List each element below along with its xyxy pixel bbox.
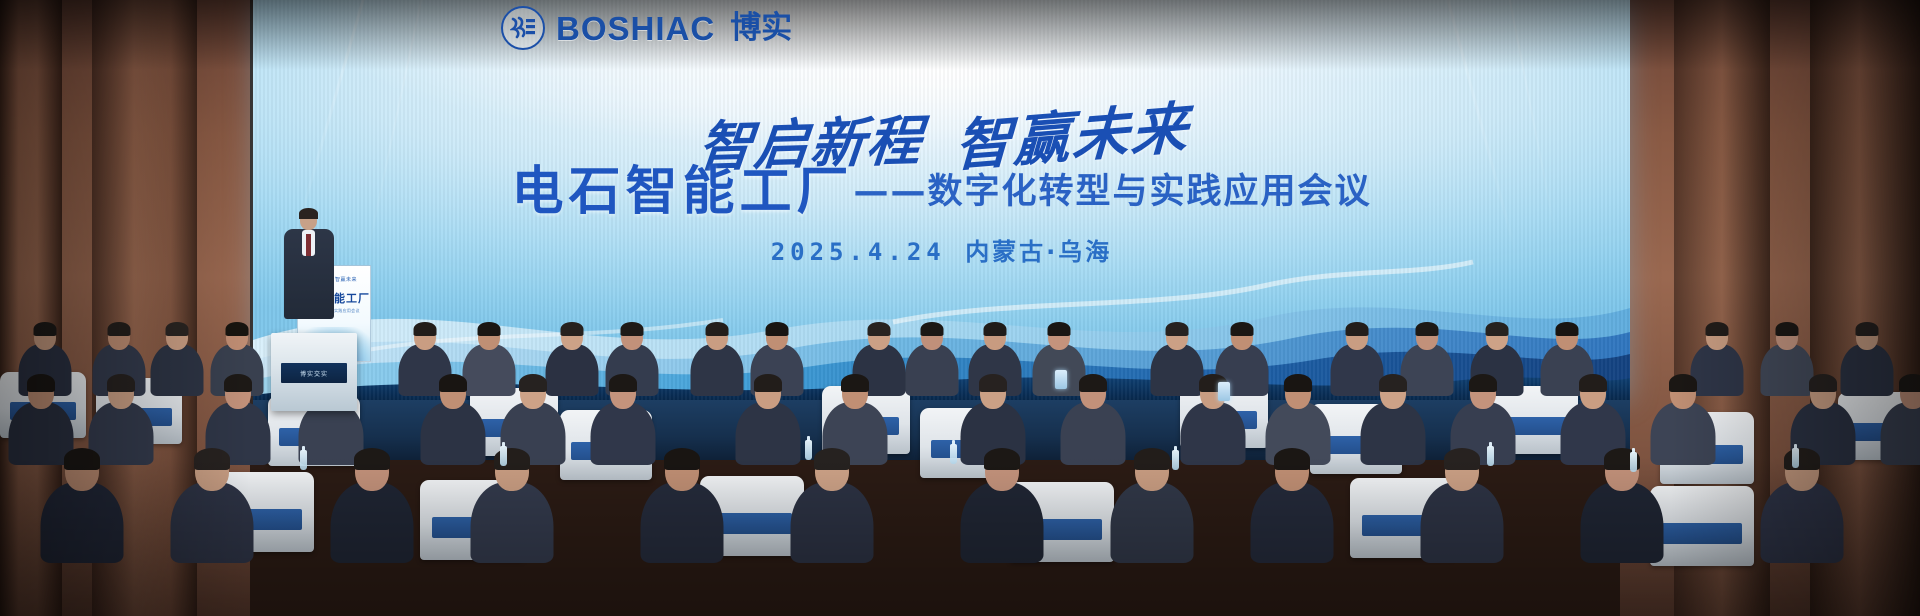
boshiac-circle-logo-icon [501,6,545,50]
audience-member-hair [1784,448,1820,470]
audience-member-hair [64,448,100,470]
audience-member-hair [1809,374,1837,392]
audience-member-hair [413,322,436,336]
event-location: 内蒙古·乌海 [965,238,1112,266]
audience-member-hair [979,374,1007,392]
smartphone-screen [1055,370,1067,389]
audience-member-hair [1079,374,1107,392]
audience-member [960,442,1043,565]
audience-member-hair [560,322,583,336]
brand-wordmark-cn: 博实 [730,13,792,44]
event-dateline: 2025.4.24 内蒙古·乌海 [253,232,1630,267]
audience-member [330,442,413,565]
audience-member-hair [27,374,55,392]
audience-member-hair [439,374,467,392]
podium: 博实交实 [271,333,357,411]
audience-member-hair [354,448,390,470]
audience-member-hair [1134,448,1170,470]
audience-member [40,442,123,565]
audience-member-hair [107,322,130,336]
audience-member-hair [519,374,547,392]
smartphone-screen [1218,382,1230,401]
water-bottle [500,446,507,466]
audience-member-hair [841,374,869,392]
water-bottle [1792,448,1799,468]
audience-member-hair [754,374,782,392]
audience-member-hair [664,448,700,470]
audience-member-hair [814,448,850,470]
audience-member-hair [1415,322,1438,336]
audience-member-hair [1705,322,1728,336]
audience-member-body [1360,402,1425,465]
water-bottle [1630,452,1637,472]
water-bottle [805,440,812,460]
audience-member-hair [1555,322,1578,336]
audience-member-hair [983,322,1006,336]
audience-member-hair [1047,322,1070,336]
audience-member [170,442,253,565]
water-bottle [950,444,957,464]
audience-member-body [1110,482,1193,563]
audience-member [1110,442,1193,565]
audience-member-body [1580,482,1663,563]
audience-member-body [960,482,1043,563]
audience-member-hair [984,448,1020,470]
audience-member [790,442,873,565]
event-date: 2025.4.24 [771,238,946,266]
audience-member-body [170,482,253,563]
water-bottle [1487,446,1494,466]
audience-member-body [905,344,958,396]
speaker-tie [306,234,311,256]
audience-member-hair [494,448,530,470]
audience-member-body [150,344,203,396]
audience-member-hair [225,322,248,336]
audience-member [1760,442,1843,565]
audience-member-hair [1469,374,1497,392]
audience-member-body [640,482,723,563]
audience-member-hair [920,322,943,336]
audience-member-body [1880,402,1920,465]
audience-member [1580,442,1663,565]
audience-member-hair [705,322,728,336]
audience-member-hair [165,322,188,336]
audience-member-hair [1855,322,1878,336]
audience-member-hair [1274,448,1310,470]
audience-member-body [1250,482,1333,563]
audience-member-hair [1379,374,1407,392]
audience-member-hair [194,448,230,470]
audience-member-hair [1669,374,1697,392]
audience-member-hair [1284,374,1312,392]
audience-member [1880,370,1920,467]
audience-member-body [1420,482,1503,563]
audience-member-hair [1165,322,1188,336]
audience-member-hair [609,374,637,392]
water-bottle [300,450,307,470]
audience-member-hair [1230,322,1253,336]
audience-member-hair [224,374,252,392]
audience-member [150,318,203,397]
headline-dash: —— [854,169,928,219]
audience-member-hair [1444,448,1480,470]
water-bottle [1172,450,1179,470]
audience-member-hair [1775,322,1798,336]
audience-member-hair [1485,322,1508,336]
headline-main: 电石智能工厂 [511,165,853,220]
audience-member-hair [1345,322,1368,336]
audience-member-hair [867,322,890,336]
audience-member-hair [33,322,56,336]
audience-member-body [790,482,873,563]
audience-member-body [1760,482,1843,563]
audience-member [1250,442,1333,565]
podium-plate: 博实交实 [281,363,347,383]
audience-member [640,442,723,565]
audience-member-hair [1579,374,1607,392]
audience-member-body [40,482,123,563]
audience-member-body [330,482,413,563]
event-headline: 电石智能工厂 —— 数字化转型与实践应用会议 [253,165,1630,220]
speaker-at-podium [280,210,336,340]
audience-member-hair [620,322,643,336]
chair-back-band [712,513,791,534]
audience-member-hair [477,322,500,336]
audience-member [470,442,553,565]
brand-wordmark: BOSHIAC [556,12,715,45]
audience-member-body [470,482,553,563]
audience-chair [1650,486,1754,566]
speaker-hair [299,208,318,219]
audience-member-hair [765,322,788,336]
chair-back-band [1662,523,1741,544]
audience-member [1360,370,1425,467]
conference-hall-photo: BOSHIAC 博实 智启新程智赢未来 电石智能工厂 —— 数字化转型与实践应用… [0,0,1920,616]
headline-sub: 数字化转型与实践应用会议 [928,169,1372,219]
audience-member-hair [1899,374,1920,392]
podium-plate-text: 博实交实 [281,363,347,383]
audience-member [905,318,958,397]
brand-logo: BOSHIAC 博实 [501,6,792,50]
audience-member-hair [107,374,135,392]
